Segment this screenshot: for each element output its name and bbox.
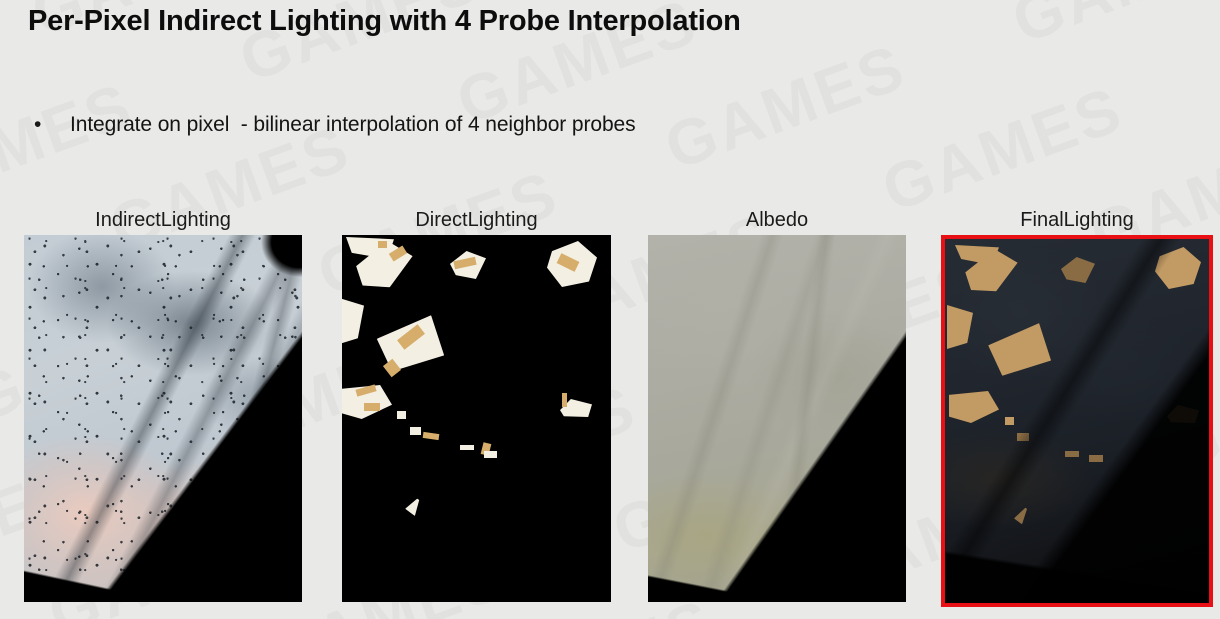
panel-caption-indirect-lighting: IndirectLighting [24, 205, 302, 235]
direct-highlight-patch-warm [364, 403, 380, 411]
panel-caption-final-lighting: FinalLighting [941, 205, 1213, 235]
direct-highlight-patch [405, 496, 424, 516]
panel-direct-lighting[interactable]: DirectLighting [342, 205, 611, 602]
panel-image-indirect-lighting[interactable] [24, 235, 302, 602]
panel-final-lighting[interactable]: FinalLighting [941, 205, 1213, 607]
watermark-text: GAMES [655, 29, 915, 184]
albedo-shadow-bottom [648, 235, 906, 602]
bullet-list: • Integrate on pixel - bilinear interpol… [34, 113, 636, 137]
panel-image-direct-lighting[interactable] [342, 235, 611, 602]
direct-highlight-patch-warm [562, 393, 567, 407]
panel-caption-albedo: Albedo [648, 205, 906, 235]
direct-highlight-patch [397, 411, 406, 419]
panel-indirect-lighting[interactable]: IndirectLighting [24, 205, 302, 602]
direct-highlight-patch [484, 451, 497, 458]
watermark-text: GAMES [873, 72, 1133, 227]
slide-canvas: GAMES GAMES GAMES GAMES GAMES GAMES GAME… [0, 0, 1220, 619]
indirect-shadow-top-right [24, 235, 302, 602]
bullet-marker: • [34, 114, 70, 135]
watermark-text: GAMES [0, 237, 13, 392]
direct-highlight-patch-warm [423, 432, 440, 440]
direct-highlight-patch [410, 427, 421, 435]
panel-albedo[interactable]: Albedo [648, 205, 906, 602]
slide-title: Per-Pixel Indirect Lighting with 4 Probe… [28, 2, 741, 40]
panel-image-albedo[interactable] [648, 235, 906, 602]
panel-image-final-lighting[interactable] [941, 235, 1213, 607]
watermark-text: GAMES [1003, 0, 1220, 58]
direct-highlight-patch-warm [378, 241, 387, 248]
direct-highlight-patch [460, 445, 474, 450]
direct-highlight-patch [342, 297, 364, 345]
direct-highlight-patch [370, 302, 457, 387]
final-shadow-layer [945, 239, 1209, 603]
watermark-text: GAMES [0, 68, 143, 223]
bullet-text: Integrate on pixel - bilinear interpolat… [70, 113, 636, 137]
watermark-text: GAMES [795, 0, 1055, 12]
panel-caption-direct-lighting: DirectLighting [342, 205, 611, 235]
